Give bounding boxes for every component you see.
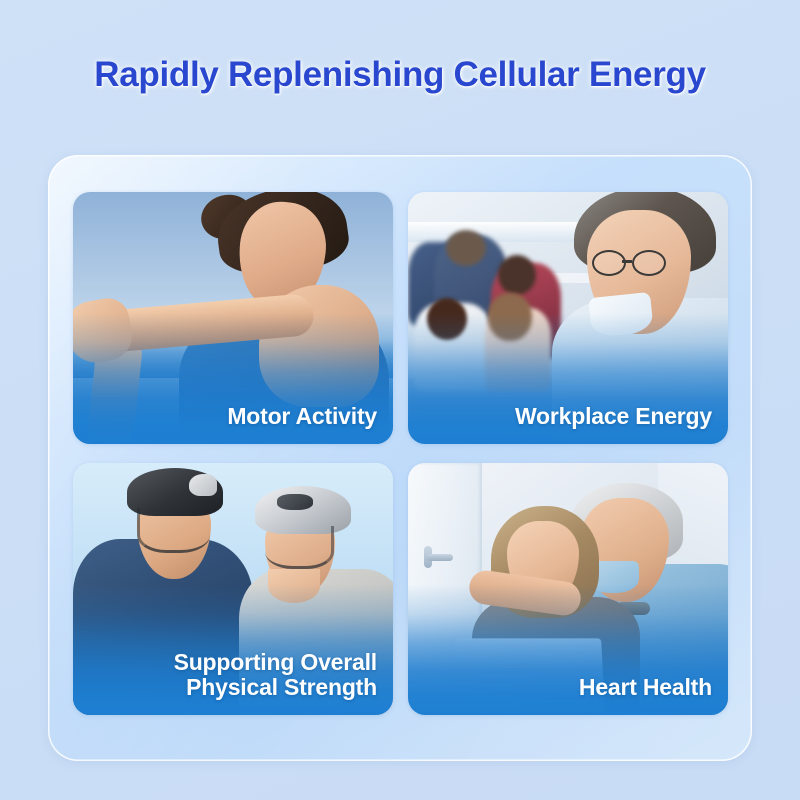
woman-helmet-strap xyxy=(265,526,334,569)
card-label-motor-activity: Motor Activity xyxy=(227,404,377,430)
page-title: Rapidly Replenishing Cellular Energy xyxy=(94,55,706,95)
background-person-1-head xyxy=(446,230,486,266)
card-supporting-overall-physical-strength[interactable]: Supporting Overall Physical Strength xyxy=(73,463,393,715)
background-person-3-head xyxy=(498,255,536,295)
man-helmet-strap xyxy=(137,508,210,553)
header: Rapidly Replenishing Cellular Energy xyxy=(0,0,800,150)
eyeglasses-bridge-icon xyxy=(622,260,632,263)
card-label-heart-health: Heart Health xyxy=(579,675,712,701)
cards-grid: Motor Activity xyxy=(73,192,728,722)
door-handle xyxy=(427,554,453,561)
card-heart-health[interactable]: Heart Health xyxy=(408,463,728,715)
card-motor-activity[interactable]: Motor Activity xyxy=(73,192,393,444)
cards-panel: Motor Activity xyxy=(48,155,752,761)
card-workplace-energy[interactable]: Workplace Energy xyxy=(408,192,728,444)
card-label-physical-strength: Supporting Overall Physical Strength xyxy=(174,650,377,702)
eyeglasses-right-lens-icon xyxy=(632,250,666,276)
eyeglasses-left-lens-icon xyxy=(592,250,626,276)
card-label-workplace-energy: Workplace Energy xyxy=(515,404,712,430)
